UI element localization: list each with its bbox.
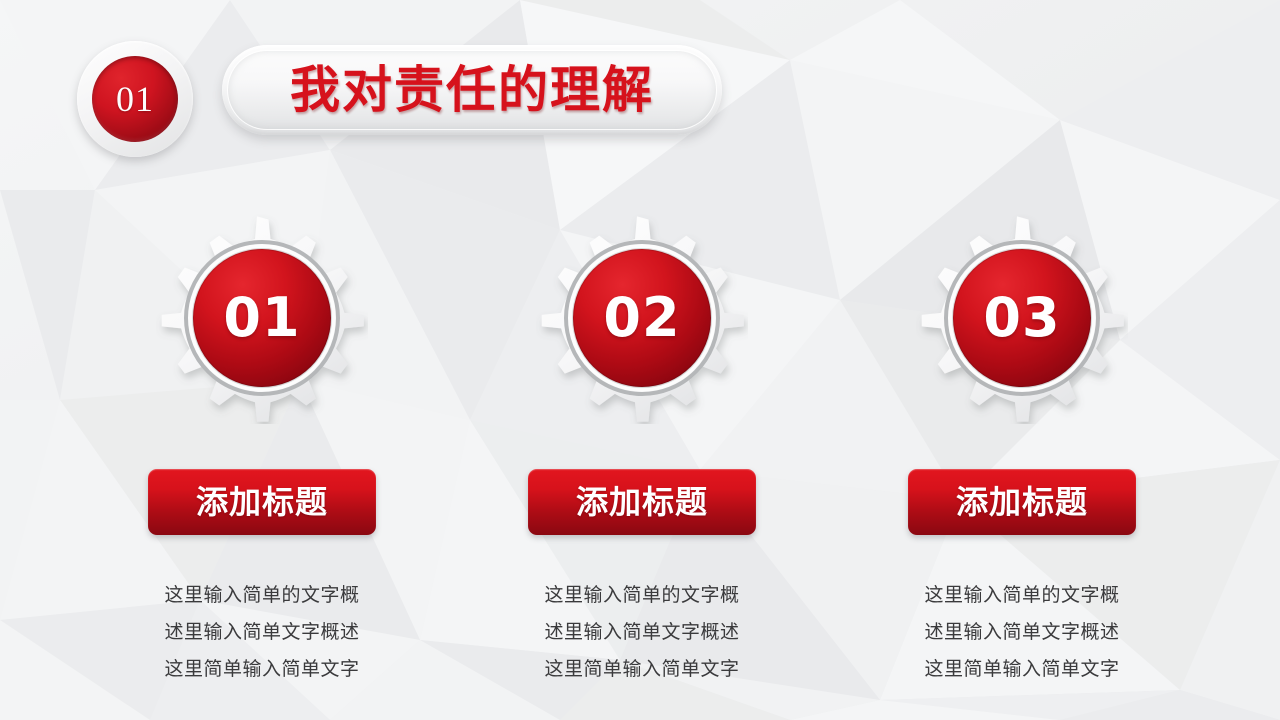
description-line: 述里输入简单文字概述 <box>544 614 739 651</box>
add-title-button[interactable]: 添加标题 <box>528 469 756 535</box>
section-number-badge: 01 <box>77 41 193 157</box>
description-block: 这里输入简单的文字概 述里输入简单文字概述 这里简单输入简单文字 <box>164 577 359 688</box>
content-column: 01 添加标题 这里输入简单的文字概 述里输入简单文字概述 这里简单输入简单文字 <box>72 212 452 688</box>
content-column: 02 添加标题 这里输入简单的文字概 述里输入简单文字概述 这里简单输入简单文字 <box>452 212 832 688</box>
section-number-badge-inner: 01 <box>92 56 178 142</box>
content-columns: 01 添加标题 这里输入简单的文字概 述里输入简单文字概述 这里简单输入简单文字 <box>0 212 1280 688</box>
gear-icon <box>536 212 748 424</box>
slide-title-pill: 我对责任的理解 <box>222 45 722 135</box>
add-title-button[interactable]: 添加标题 <box>148 469 376 535</box>
description-block: 这里输入简单的文字概 述里输入简单文字概述 这里简单输入简单文字 <box>544 577 739 688</box>
section-number-text: 01 <box>116 81 154 117</box>
page-title: 我对责任的理解 <box>290 65 654 115</box>
description-line: 这里输入简单的文字概 <box>924 577 1119 614</box>
description-line: 述里输入简单文字概述 <box>164 614 359 651</box>
description-line: 这里简单输入简单文字 <box>164 651 359 688</box>
description-block: 这里输入简单的文字概 述里输入简单文字概述 这里简单输入简单文字 <box>924 577 1119 688</box>
gear-icon-03[interactable]: 03 <box>916 212 1128 424</box>
description-line: 这里输入简单的文字概 <box>164 577 359 614</box>
description-line: 这里简单输入简单文字 <box>544 651 739 688</box>
add-title-button[interactable]: 添加标题 <box>908 469 1136 535</box>
description-line: 述里输入简单文字概述 <box>924 614 1119 651</box>
add-title-button-label: 添加标题 <box>196 486 328 518</box>
description-line: 这里简单输入简单文字 <box>924 651 1119 688</box>
add-title-button-label: 添加标题 <box>956 486 1088 518</box>
gear-icon-02[interactable]: 02 <box>536 212 748 424</box>
add-title-button-label: 添加标题 <box>576 486 708 518</box>
gear-icon-01[interactable]: 01 <box>156 212 368 424</box>
gear-icon <box>156 212 368 424</box>
gear-icon <box>916 212 1128 424</box>
slide-canvas: 01 我对责任的理解 <box>0 0 1280 720</box>
content-column: 03 添加标题 这里输入简单的文字概 述里输入简单文字概述 这里简单输入简单文字 <box>832 212 1212 688</box>
description-line: 这里输入简单的文字概 <box>544 577 739 614</box>
